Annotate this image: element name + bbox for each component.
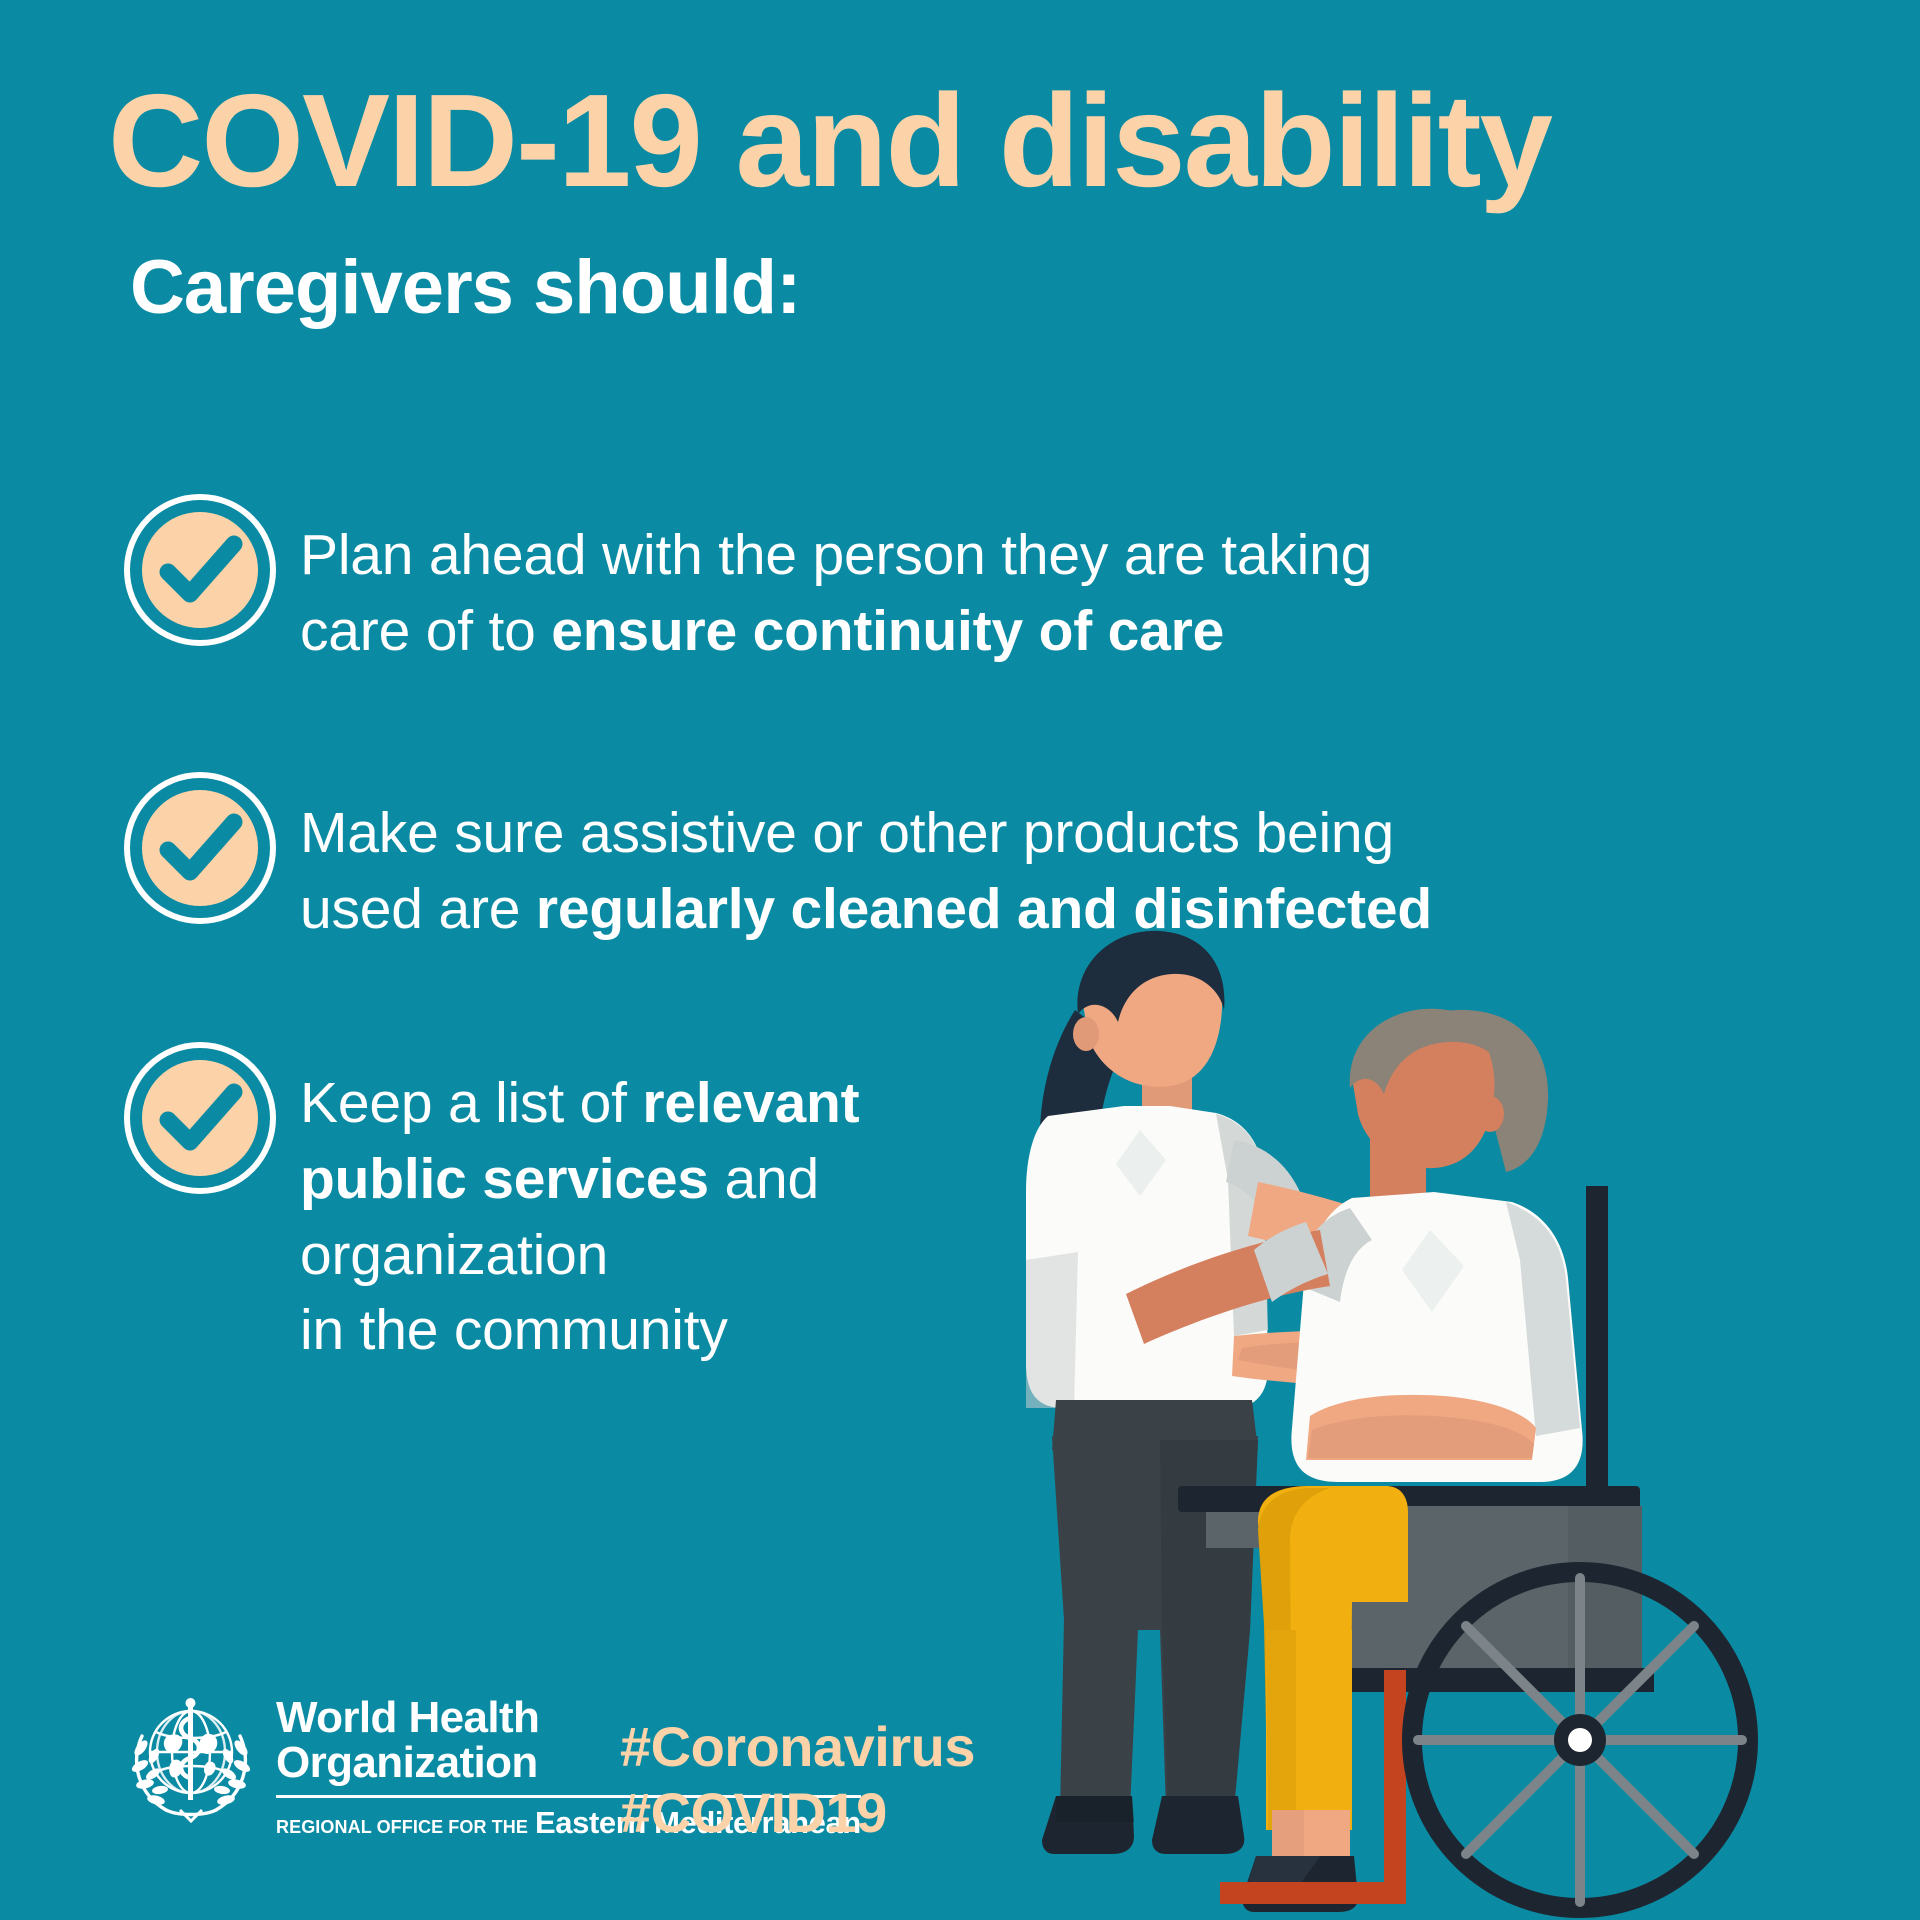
bullet-3-line4: in the community <box>300 1298 728 1362</box>
hashtag-block: #Coronavirus #COVID19 <box>620 1714 975 1846</box>
bullet-2-line2-plain: used are <box>300 877 536 941</box>
bullet-3-line1-bold: relevant <box>642 1071 859 1135</box>
bullet-1-line2-bold: ensure continuity of care <box>551 599 1224 663</box>
bullet-item-1: Plan ahead with the person they are taki… <box>124 512 1824 670</box>
check-circle-icon <box>124 1042 276 1194</box>
caregiver-shoe-right <box>1152 1796 1244 1854</box>
page-subtitle: Caregivers should: <box>130 248 800 328</box>
check-circle-icon <box>124 494 276 646</box>
bullet-1-line1: Plan ahead with the person they are taki… <box>300 523 1372 587</box>
bullet-text-2: Make sure assistive or other products be… <box>300 790 1432 948</box>
bullet-3-line2-plain: and <box>709 1147 819 1211</box>
bullet-3-line1-plain: Keep a list of <box>300 1071 642 1135</box>
page-title: COVID-19 and disability <box>108 72 1868 211</box>
wheelchair-rear-wheel <box>1412 1572 1748 1908</box>
bullet-text-1: Plan ahead with the person they are taki… <box>300 512 1372 670</box>
hashtag-coronavirus: #Coronavirus <box>620 1714 975 1780</box>
hashtag-covid19: #COVID19 <box>620 1780 975 1846</box>
bullet-1-line2-plain: care of to <box>300 599 551 663</box>
caregiver-and-wheelchair-user-illustration <box>1020 930 1920 1920</box>
bullet-item-2: Make sure assistive or other products be… <box>124 790 1824 948</box>
bullet-3-line3: organization <box>300 1223 608 1287</box>
wheelchair-backrest-post <box>1586 1186 1608 1516</box>
bullet-text-3: Keep a list of relevant public services … <box>300 1060 859 1369</box>
who-emblem-icon <box>122 1690 260 1828</box>
poster-root: COVID-19 and disability Caregivers shoul… <box>0 0 1920 1920</box>
bullet-2-line1: Make sure assistive or other products be… <box>300 801 1394 865</box>
check-circle-icon <box>124 772 276 924</box>
who-region-prefix: REGIONAL OFFICE FOR THE <box>276 1817 528 1838</box>
bullet-3-line2-bold: public services <box>300 1147 709 1211</box>
